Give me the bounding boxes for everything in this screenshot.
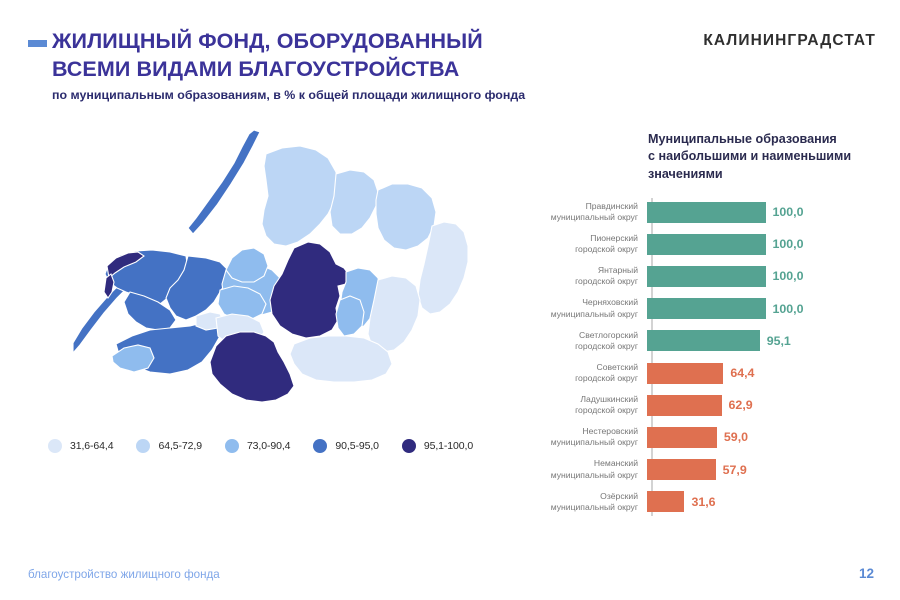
bar-chart-row[interactable]: Правдинскиймуниципальный округ100,0 [548,196,878,228]
bar-value-label: 57,9 [723,463,747,477]
bar-category-label-line-2: городской округ [548,276,638,287]
chart-title-line-1: Муниципальные образования [648,131,898,148]
bar-value-label: 100,0 [773,237,804,251]
chart-title-line-2: с наибольшими и наименьшими [648,148,898,165]
bar-fill[interactable] [647,330,760,351]
bar-category-label-line-2: городской округ [548,373,638,384]
map-legend: 31,6-64,4 64,5-72,9 73,0-90,4 90,5-95,0 … [48,435,508,457]
bar-value-label: 64,4 [730,366,754,380]
bar-category-label: Неманскиймуниципальный округ [548,458,647,480]
bar-category-label-line-1: Правдинский [548,201,638,212]
legend-label: 73,0-90,4 [247,440,290,452]
bar-category-label-line-1: Светлогорский [548,330,638,341]
footer-note: благоустройство жилищного фонда [28,568,220,581]
bar-fill[interactable] [647,363,723,384]
legend-item[interactable]: 95,1-100,0 [402,439,473,453]
bar-category-label-line-1: Неманский [548,458,638,469]
bar-category-label-line-2: муниципальный округ [548,470,638,481]
bar-value-label: 100,0 [773,205,804,219]
bar-category-label: Советскийгородской округ [548,362,647,384]
bar-category-label-line-1: Озёрский [548,491,638,502]
bar-category-label-line-1: Нестеровский [548,426,638,437]
bar-category-label: Ладушкинскийгородской округ [548,394,647,416]
legend-item[interactable]: 73,0-90,4 [225,439,290,453]
bar-track: 100,0 [647,228,878,260]
bar-value-label: 59,0 [724,430,748,444]
bar-chart-row[interactable]: Светлогорскийгородской округ95,1 [548,325,878,357]
bar-chart-row[interactable]: Янтарныйгородской округ100,0 [548,260,878,292]
bar-category-label: Пионерскийгородской округ [548,233,647,255]
legend-item[interactable]: 64,5-72,9 [136,439,201,453]
bar-fill[interactable] [647,298,766,319]
bar-category-label-line-2: муниципальный округ [548,502,638,513]
legend-item[interactable]: 90,5-95,0 [313,439,378,453]
bar-category-label-line-2: муниципальный округ [548,437,638,448]
bar-track: 100,0 [647,196,878,228]
bar-fill[interactable] [647,459,716,480]
bar-value-label: 62,9 [729,398,753,412]
bar-chart-row[interactable]: Советскийгородской округ64,4 [548,357,878,389]
bar-category-label-line-1: Ладушкинский [548,394,638,405]
bar-fill[interactable] [647,427,717,448]
bar-chart-row[interactable]: Озёрскиймуниципальный округ31,6 [548,486,878,518]
map-region-slavsky[interactable] [262,146,338,246]
bar-category-label-line-1: Черняховский [548,297,638,308]
bar-fill[interactable] [647,266,766,287]
page-subtitle: по муниципальным образованиям, в % к общ… [52,88,652,103]
bar-chart-row[interactable]: Нестеровскиймуниципальный округ59,0 [548,421,878,453]
legend-label: 64,5-72,9 [158,440,201,452]
bar-category-label-line-1: Янтарный [548,265,638,276]
legend-color-swatch-icon [225,439,239,453]
legend-label: 90,5-95,0 [335,440,378,452]
map-region-nemansky[interactable] [330,170,378,234]
page-title: ЖИЛИЩНЫЙ ФОНД, ОБОРУДОВАННЫЙ ВСЕМИ ВИДАМ… [52,28,642,83]
map-region-curonian-spit[interactable] [188,130,260,234]
bar-track: 100,0 [647,260,878,292]
bar-track: 62,9 [647,389,878,421]
brand-label: КАЛИНИНГРАДСТАТ [703,32,876,50]
legend-color-swatch-icon [136,439,150,453]
bar-chart-row[interactable]: Пионерскийгородской округ100,0 [548,228,878,260]
map-region-pravdinsky[interactable] [210,332,294,402]
bar-chart-row[interactable]: Неманскиймуниципальный округ57,9 [548,454,878,486]
title-accent-bar [28,40,47,47]
bar-value-label: 31,6 [691,495,715,509]
map-region-ozyorsky[interactable] [290,336,392,382]
bar-category-label-line-2: городской округ [548,405,638,416]
bar-category-label-line-1: Советский [548,362,638,373]
bar-track: 57,9 [647,454,878,486]
legend-color-swatch-icon [313,439,327,453]
bar-fill[interactable] [647,395,722,416]
bar-track: 100,0 [647,293,878,325]
map-region-slavsky-south[interactable] [226,248,268,282]
bar-value-label: 100,0 [773,269,804,283]
bar-category-label-line-1: Пионерский [548,233,638,244]
bar-category-label: Правдинскиймуниципальный округ [548,201,647,223]
bar-track: 59,0 [647,421,878,453]
map-svg [20,130,520,430]
bar-chart-row[interactable]: Черняховскиймуниципальный округ100,0 [548,293,878,325]
bar-chart-row[interactable]: Ладушкинскийгородской округ62,9 [548,389,878,421]
chart-title-line-3: значениями [648,166,898,183]
bar-category-label: Нестеровскиймуниципальный округ [548,426,647,448]
choropleth-map [20,130,520,430]
bar-category-label-line-2: городской округ [548,244,638,255]
map-region-chernyakhovsky-east-strip[interactable] [336,296,364,336]
bar-category-label: Черняховскиймуниципальный округ [548,297,647,319]
legend-color-swatch-icon [402,439,416,453]
legend-label: 31,6-64,4 [70,440,113,452]
legend-item[interactable]: 31,6-64,4 [48,439,113,453]
bar-category-label-line-2: городской округ [548,341,638,352]
page-title-line-1: ЖИЛИЩНЫЙ ФОНД, ОБОРУДОВАННЫЙ [52,28,642,56]
page-title-line-2: ВСЕМИ ВИДАМИ БЛАГОУСТРОЙСТВА [52,56,642,84]
bar-category-label: Озёрскиймуниципальный округ [548,491,647,513]
bar-category-label-line-2: муниципальный округ [548,212,638,223]
bar-category-label: Янтарныйгородской округ [548,265,647,287]
bar-value-label: 95,1 [767,334,791,348]
bar-category-label: Светлогорскийгородской округ [548,330,647,352]
footer-page-number: 12 [859,566,874,581]
bar-track: 64,4 [647,357,878,389]
chart-title: Муниципальные образования с наибольшими … [648,131,898,183]
bar-track: 95,1 [647,325,878,357]
bar-fill[interactable] [647,234,766,255]
bar-value-label: 100,0 [773,302,804,316]
legend-label: 95,1-100,0 [424,440,473,452]
bar-chart: Правдинскиймуниципальный округ100,0Пионе… [548,196,878,518]
bar-fill[interactable] [647,491,684,512]
legend-color-swatch-icon [48,439,62,453]
bar-fill[interactable] [647,202,766,223]
bar-category-label-line-2: муниципальный округ [548,309,638,320]
bar-track: 31,6 [647,486,878,518]
map-region-krasnoznamensky[interactable] [376,184,436,250]
